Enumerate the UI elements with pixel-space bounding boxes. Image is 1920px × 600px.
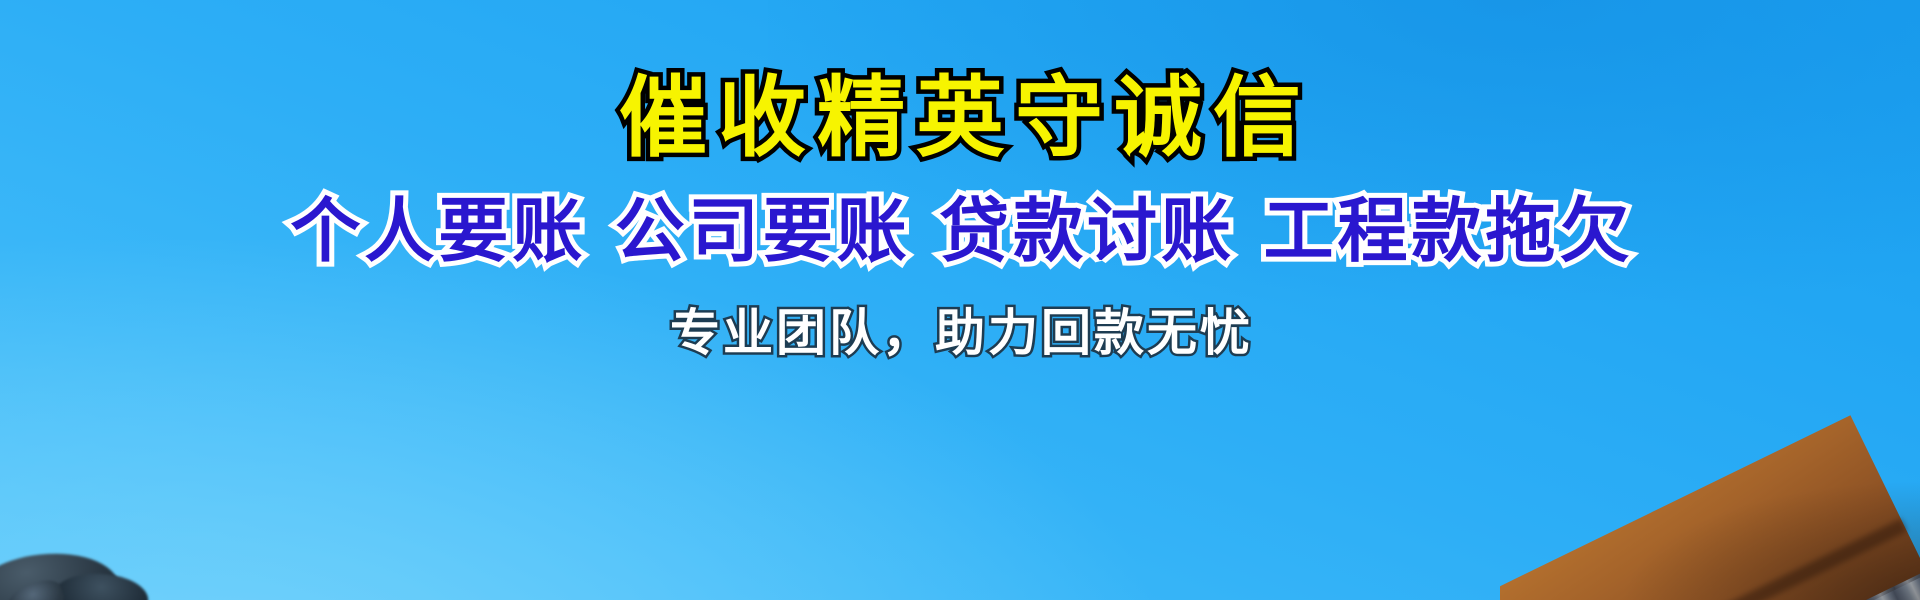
banner-text-block: 催收精英守诚信 个人要账 公司要账 贷款讨账 工程款拖欠 专业团队，助力回款无忧	[0, 0, 1920, 600]
promo-banner: 催收精英守诚信 个人要账 公司要账 贷款讨账 工程款拖欠 专业团队，助力回款无忧	[0, 0, 1920, 600]
banner-services-line: 个人要账 公司要账 贷款讨账 工程款拖欠	[286, 196, 1633, 266]
banner-tagline: 专业团队，助力回款无忧	[667, 308, 1253, 358]
banner-headline: 催收精英守诚信	[608, 74, 1312, 162]
